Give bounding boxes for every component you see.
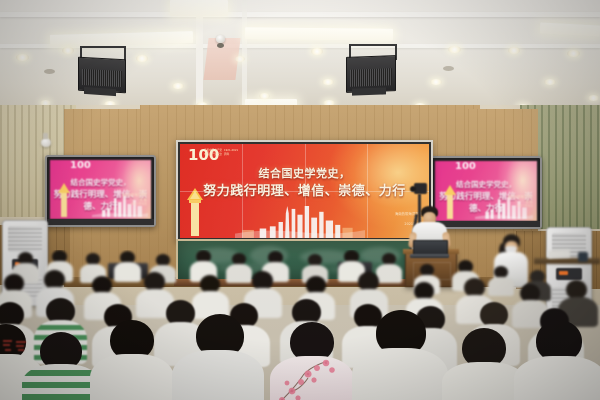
side-display-left-emblem: 100 (54, 163, 98, 172)
side-display-left-torch-graphic (54, 183, 74, 217)
torch-monument-graphic (184, 188, 206, 236)
sprinkler-head (44, 69, 55, 74)
ceiling (0, 0, 600, 112)
downlight (448, 46, 461, 53)
floral-shirt (270, 356, 354, 400)
downlight (311, 48, 323, 55)
downlight (430, 79, 442, 85)
projector-grille (350, 68, 392, 86)
ceiling-light-panel (245, 27, 393, 41)
lecture-hall-photo: 100 结合国史学党史， 努力践行明理、增信、崇德、力行 海南热带海洋学院 党 … (0, 0, 600, 400)
ceiling-beam-vertical (196, 0, 203, 112)
side-display-right-emblem: 100 (439, 164, 483, 173)
side-display-right-bezel-bottom (432, 221, 540, 227)
projector-mount (84, 87, 116, 96)
side-display-right-screen: 100 结合国史学党史， 努力践行明理、增信、崇德、力行 海南热带海洋学院 党 … (435, 161, 537, 221)
emblem-left-text: 庆祝中国共产党 中国共产党成立 (188, 149, 222, 157)
ceiling-beam (0, 12, 600, 17)
shirt-print (2, 338, 28, 354)
audience (0, 250, 600, 400)
emblem-right-text: 1921-2021 周年 (224, 149, 238, 157)
emblem-number: 100 (455, 162, 476, 172)
downlight (508, 47, 520, 54)
side-display-left: 100 结合国史学党史， 努力践行明理、增信、崇德、力行 海南热带海洋学院 党 … (45, 155, 156, 227)
striped-shirt (22, 364, 100, 400)
downlight (588, 95, 599, 101)
screen-glow (115, 160, 151, 219)
camera-mount (43, 133, 48, 139)
projector-grille (82, 69, 122, 87)
downlight (544, 79, 556, 85)
side-display-left-bezel-bottom (47, 219, 154, 225)
side-display-left-screen: 100 结合国史学党史， 努力践行明理、增信、崇德、力行 海南热带海洋学院 党 … (50, 160, 151, 219)
sprinkler-head (443, 66, 454, 71)
side-display-right: 100 结合国史学党史， 努力践行明理、增信、崇德、力行 海南热带海洋学院 党 … (430, 156, 542, 229)
downlight (16, 54, 29, 61)
downlight (62, 47, 74, 54)
dome-camera-lens-icon (217, 43, 224, 48)
skyline-graphic (235, 206, 366, 238)
main-video-wall-screen: 100 庆祝中国共产党 中国共产党成立 1921-2021 周年 结合国史学党史… (180, 144, 429, 238)
main-video-wall: 100 庆祝中国共产党 中国共产党成立 1921-2021 周年 结合国史学党史… (176, 140, 433, 242)
emblem-number: 100 (70, 161, 91, 171)
emblem-left-line-2: 中国共产党成立 (188, 153, 222, 157)
projector-mount (352, 87, 386, 95)
downlight (322, 79, 334, 85)
downlight (567, 50, 580, 57)
camera-lens-icon (410, 186, 416, 192)
downlight (259, 93, 270, 99)
wall-dome-camera-icon (41, 138, 51, 147)
emblem-right-line-2: 周年 (224, 153, 238, 157)
cherry-blossom-print (270, 356, 354, 400)
ac-vent (8, 226, 42, 252)
ceiling-light-panel (540, 22, 600, 36)
screen-glow (498, 161, 537, 221)
downlight (235, 56, 245, 62)
panel-seam (180, 191, 429, 192)
dome-camera-icon (216, 35, 225, 43)
side-display-right-torch-graphic (440, 185, 460, 219)
downlight (136, 55, 148, 62)
downlight (172, 83, 184, 89)
ceiling-light-panel (170, 0, 228, 16)
